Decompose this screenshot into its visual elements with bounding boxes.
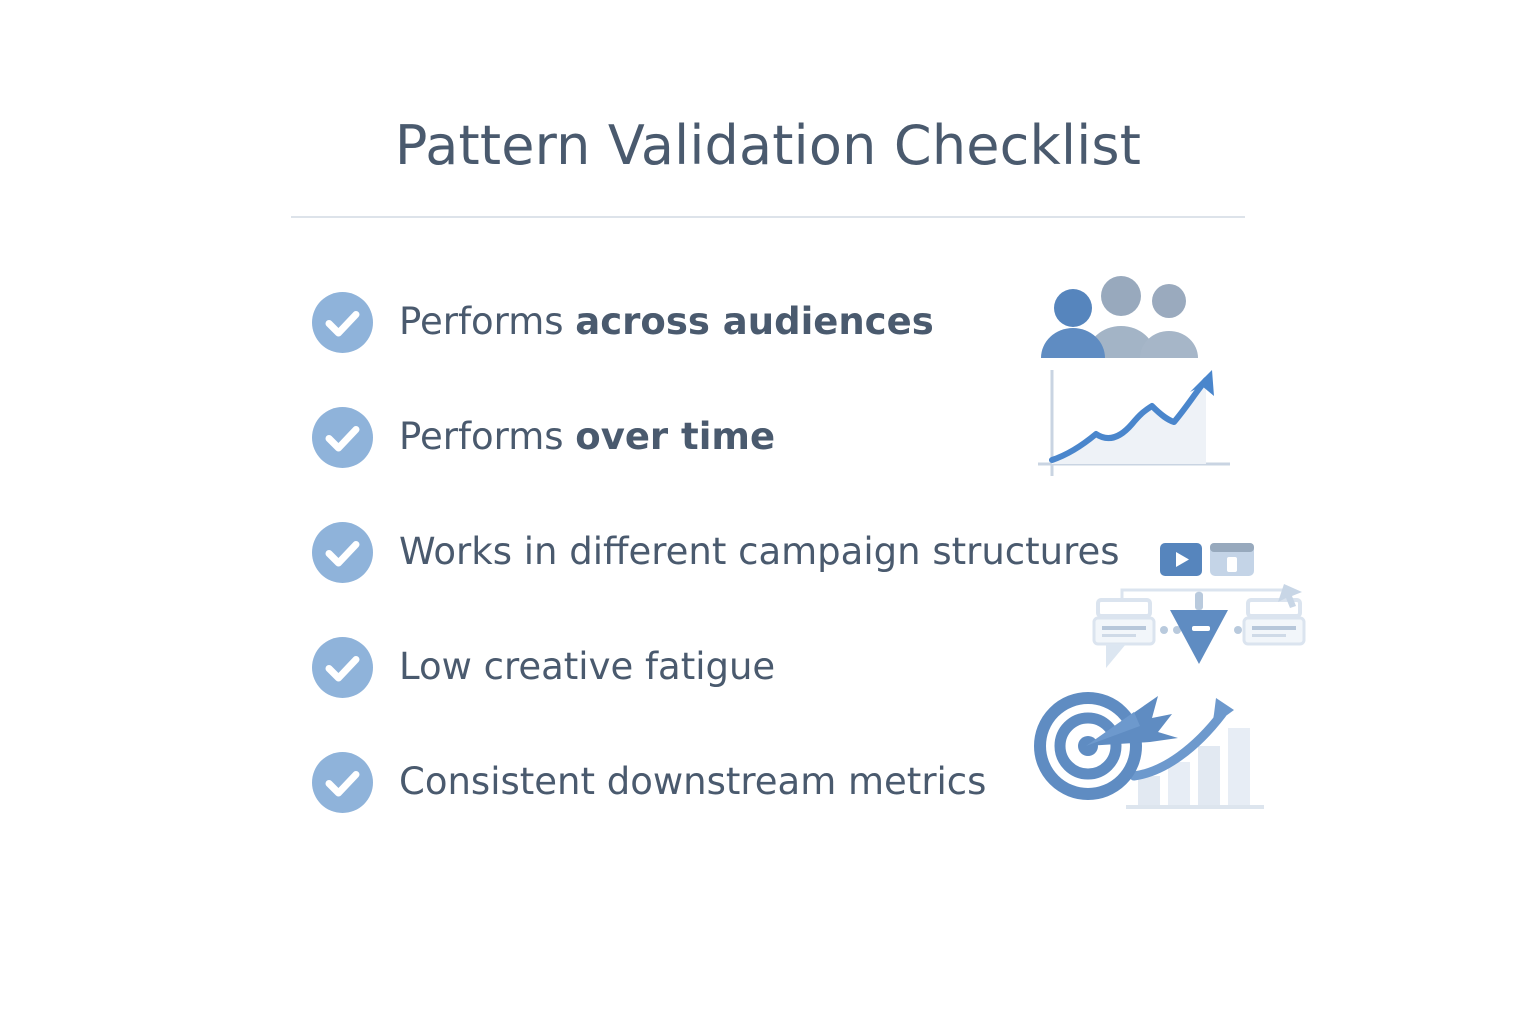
media-badges-icon [1160, 540, 1256, 580]
check-circle-icon[interactable] [312, 752, 373, 813]
checklist-item-emphasis: across audiences [575, 300, 933, 343]
people-icon [1026, 268, 1216, 358]
check-circle-icon[interactable] [312, 407, 373, 468]
target-growth-icon [1030, 684, 1270, 816]
check-circle-icon[interactable] [312, 522, 373, 583]
check-circle-icon[interactable] [312, 292, 373, 353]
page-title: Pattern Validation Checklist [0, 114, 1536, 177]
trend-up-chart-icon [1034, 364, 1234, 482]
checklist-item-lead: Performs [399, 300, 575, 343]
checklist-item-label: Consistent downstream metrics [399, 750, 986, 814]
checklist-item-label: Performs across audiences [399, 290, 934, 354]
checklist-slide: Pattern Validation Checklist Performs ac… [0, 0, 1536, 1024]
check-circle-icon[interactable] [312, 637, 373, 698]
campaign-structure-flow-icon [1092, 578, 1306, 672]
checklist-item-label: Low creative fatigue [399, 635, 775, 699]
checklist-item-label: Works in different campaign structures [399, 520, 1120, 584]
checklist-item-emphasis: over time [575, 415, 775, 458]
checklist-item-label: Performs over time [399, 405, 775, 469]
header-divider [291, 216, 1245, 218]
checklist-item-lead: Performs [399, 415, 575, 458]
